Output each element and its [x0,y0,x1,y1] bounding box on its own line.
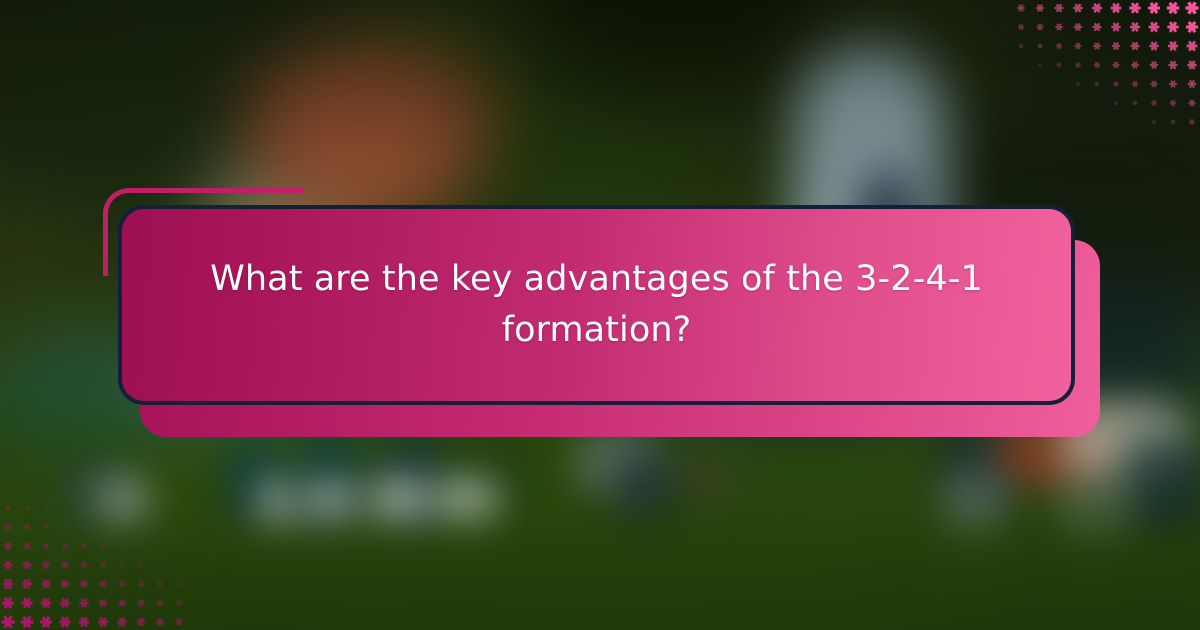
question-card: What are the key advantages of the 3-2-4… [118,205,1075,405]
halftone-dots-top-right [1010,0,1200,130]
halftone-dots-bottom-left [0,495,190,630]
question-headline: What are the key advantages of the 3-2-4… [192,254,1002,356]
